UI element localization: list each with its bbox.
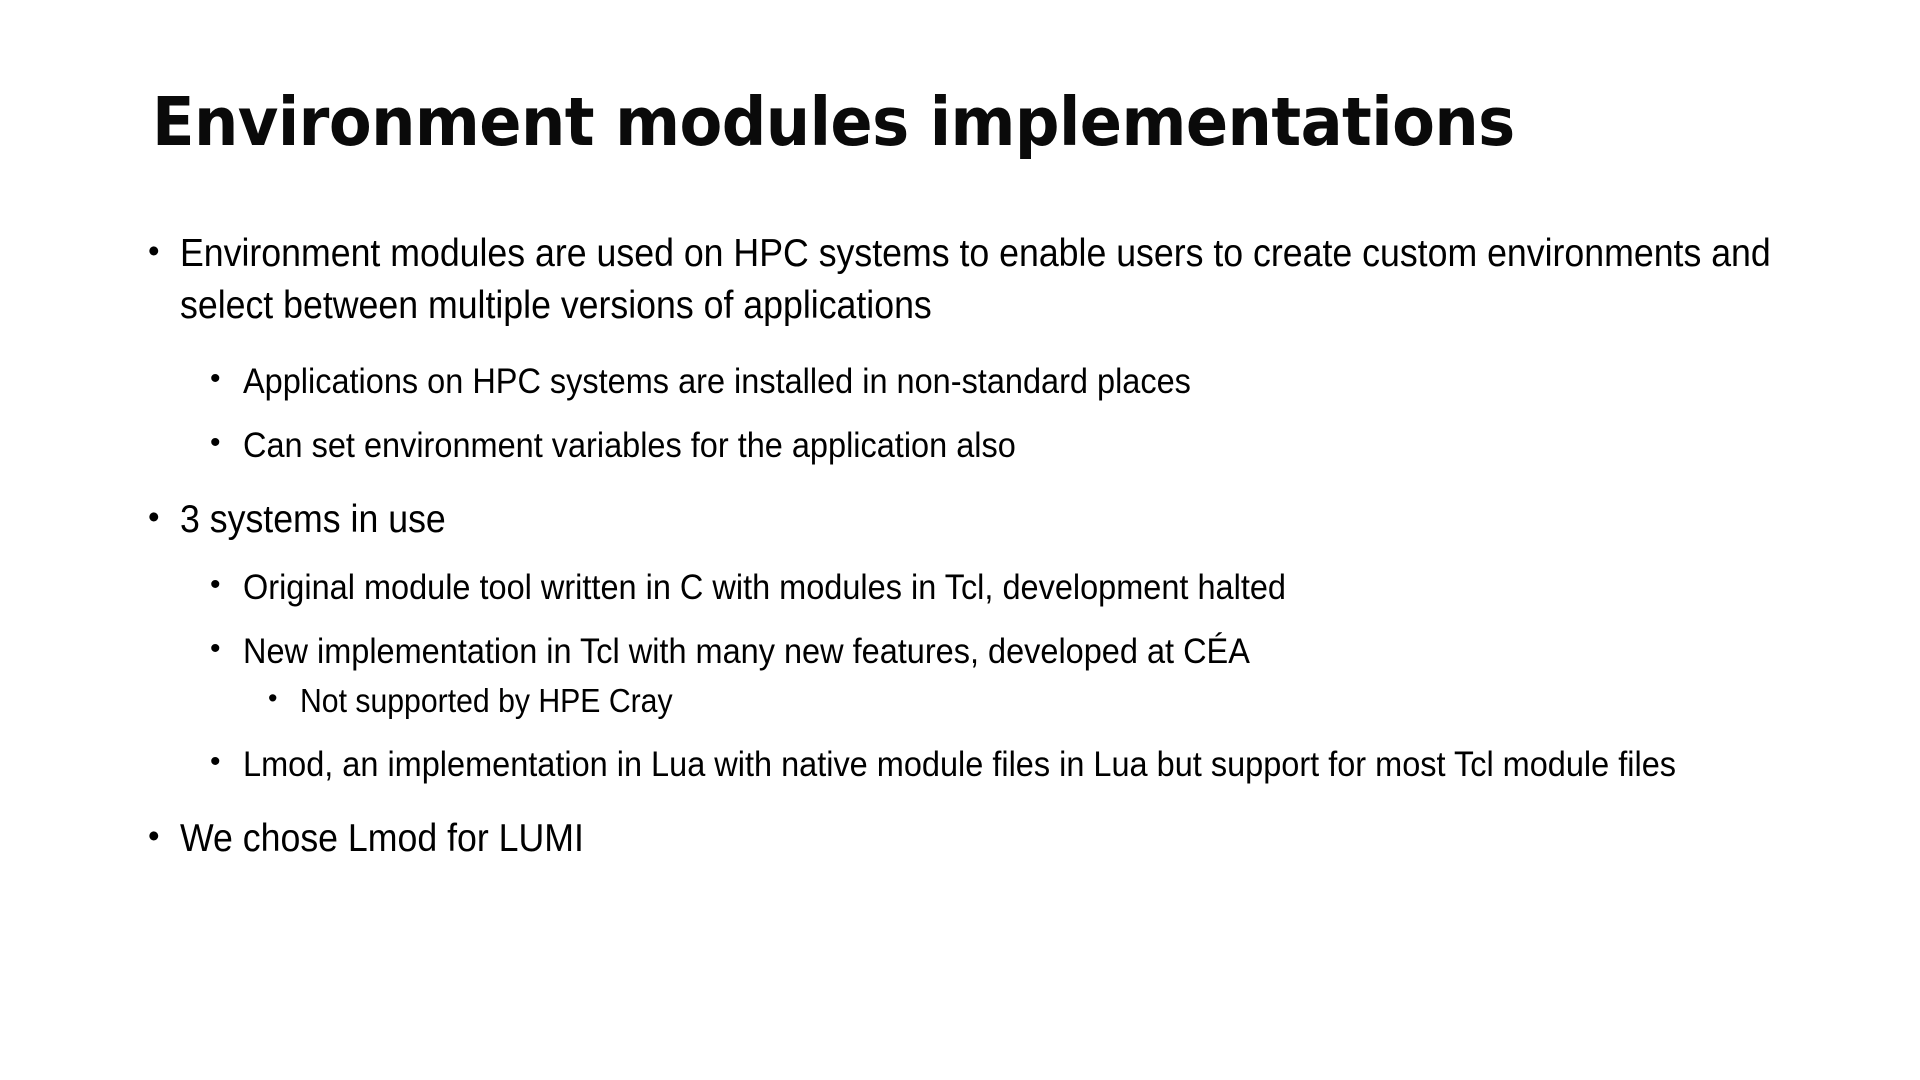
list-item-label: Not supported by HPE Cray [300, 680, 1808, 723]
list-item-label: We chose Lmod for LUMI [180, 813, 1808, 865]
slide-canvas: Environment modules implementations • En… [0, 0, 1920, 1080]
list-item-label: New implementation in Tcl with many new … [243, 628, 1808, 674]
bullet-glyph-icon: • [210, 565, 240, 604]
page-title: Environment modules implementations [152, 87, 1659, 158]
bullet-glyph-icon: • [148, 814, 178, 858]
list-item: • Original module tool written in C with… [148, 564, 1808, 610]
list-item-label: Original module tool written in C with m… [243, 564, 1808, 610]
list-item: • Environment modules are used on HPC sy… [148, 228, 1808, 332]
list-item-label: Can set environment variables for the ap… [243, 422, 1808, 468]
list-item: • New implementation in Tcl with many ne… [148, 628, 1808, 674]
bullet-glyph-icon: • [210, 423, 240, 462]
slide-body-content: • Environment modules are used on HPC sy… [148, 228, 1808, 877]
list-item: • Can set environment variables for the … [148, 422, 1808, 468]
list-item-label: Applications on HPC systems are installe… [243, 358, 1808, 404]
bullet-glyph-icon: • [210, 629, 240, 668]
list-item-label: Lmod, an implementation in Lua with nati… [243, 741, 1808, 787]
bullet-glyph-icon: • [210, 359, 240, 398]
list-item-label: 3 systems in use [180, 494, 1808, 546]
list-item: • Applications on HPC systems are instal… [148, 358, 1808, 404]
list-item: • Not supported by HPE Cray [148, 680, 1808, 723]
bullet-glyph-icon: • [210, 742, 240, 781]
bullet-glyph-icon: • [268, 681, 298, 716]
bullet-glyph-icon: • [148, 229, 178, 273]
list-item-label: Environment modules are used on HPC syst… [180, 228, 1808, 332]
bullet-glyph-icon: • [148, 495, 178, 539]
list-item: • 3 systems in use [148, 494, 1808, 546]
list-item: • Lmod, an implementation in Lua with na… [148, 741, 1808, 787]
list-item: • We chose Lmod for LUMI [148, 813, 1808, 865]
